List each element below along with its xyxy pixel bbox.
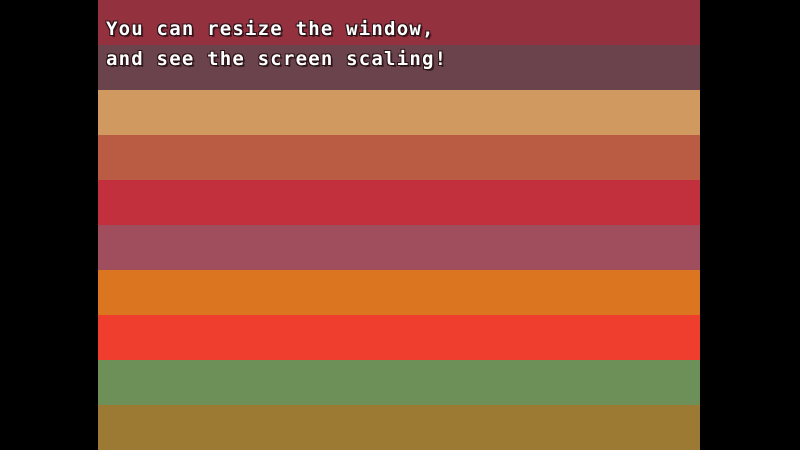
letterbox-bar-right	[700, 0, 800, 450]
stripe-3	[98, 90, 700, 135]
stripe-7	[98, 270, 700, 315]
letterbox-bar-left	[0, 0, 98, 450]
stripe-10	[98, 405, 700, 450]
stripe-6	[98, 225, 700, 270]
scaled-viewport: You can resize the window, and see the s…	[98, 0, 700, 450]
stripe-5	[98, 180, 700, 225]
color-stripe-stack	[98, 0, 700, 450]
stripe-4	[98, 135, 700, 180]
app-window: You can resize the window, and see the s…	[0, 0, 800, 450]
stripe-1	[98, 0, 700, 45]
stripe-9	[98, 360, 700, 405]
stripe-8	[98, 315, 700, 360]
stripe-2	[98, 45, 700, 90]
